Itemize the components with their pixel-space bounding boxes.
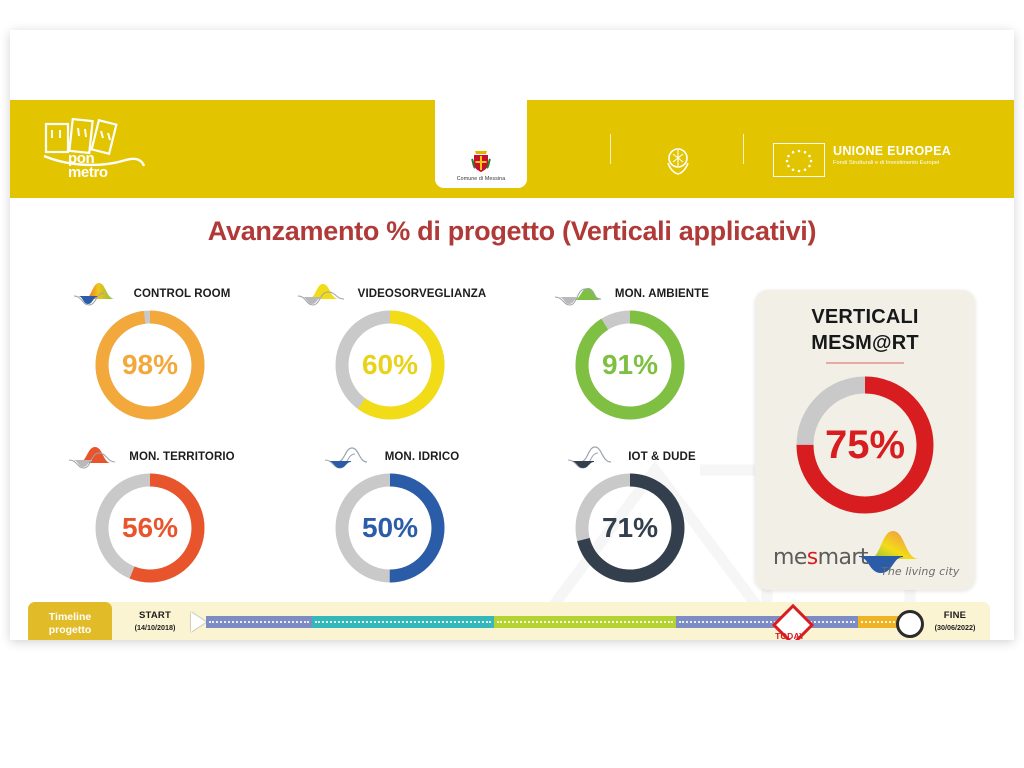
mesmart-logo: mesmart The living city (763, 527, 967, 585)
brand-line-metro: metro (68, 166, 108, 180)
donut-ring: 98% (90, 305, 210, 425)
mesmart-wordmark: mesmart (773, 545, 868, 570)
header-divider-2 (743, 134, 744, 164)
slide-canvas: pon metro Comune di Messina (10, 30, 1014, 640)
timeline-start-label: START (118, 610, 192, 621)
donut-label: CONTROL ROOM (134, 288, 231, 300)
timeline: Timeline progetto START (14/10/2018) 201… (28, 602, 990, 640)
donut-label: IOT & DUDE (628, 451, 695, 463)
mesmart-tagline: The living city (881, 565, 960, 578)
donut-ring: 91% (570, 305, 690, 425)
panel-title-line1: VERTICALI (755, 304, 975, 330)
donut-control-room: CONTROL ROOM 98% (30, 275, 270, 435)
donut-ring: 60% (330, 305, 450, 425)
donut-iot-dude: IOT & DUDE 71% (510, 438, 750, 598)
eu-title: UNIONE EUROPEA (833, 144, 951, 158)
donut-grid: CONTROL ROOM 98% VIDE (22, 275, 742, 595)
comune-di-messina-tab: Comune di Messina (435, 100, 527, 188)
donut-value: 98% (90, 305, 210, 425)
donut-label: MON. IDRICO (385, 451, 460, 463)
pon-metro-logo: pon metro (38, 116, 158, 188)
timeline-start-arrow-icon (191, 612, 206, 632)
donut-ring: 71% (570, 468, 690, 588)
donut-label: MON. TERRITORIO (129, 451, 234, 463)
donut-value: 91% (570, 305, 690, 425)
timeline-segment-2019 (312, 616, 494, 628)
donut-value: 71% (570, 468, 690, 588)
donut-ring: 56% (90, 468, 210, 588)
logo-pre: me (773, 545, 807, 570)
timeline-badge: Timeline progetto (28, 602, 112, 640)
repubblica-italiana-emblem (662, 143, 694, 177)
donut-label: VIDEOSORVEGLIANZA (358, 288, 487, 300)
timeline-end: FINE (30/06/2022) (920, 610, 990, 632)
header-band: pon metro Comune di Messina (10, 100, 1014, 198)
page-title: Avanzamento % di progetto (Verticali app… (10, 216, 1014, 247)
donut-value: 50% (330, 468, 450, 588)
donut-ring: 50% (330, 468, 450, 588)
eu-subtitle: Fondi Strutturali e di Investimento Euro… (833, 160, 951, 166)
pon-metro-wordmark: pon metro (68, 152, 108, 180)
timeline-badge-line1: Timeline (49, 611, 91, 624)
eu-flag-icon (773, 143, 825, 177)
timeline-start-date: (14/10/2018) (118, 623, 192, 632)
panel-title: VERTICALI MESM@RT (755, 304, 975, 356)
donut-mon-idrico: MON. IDRICO 50% (270, 438, 510, 598)
panel-value: 75% (790, 370, 940, 520)
donut-mon-territorio: MON. TERRITORIO 56% (30, 438, 270, 598)
timeline-segment-2020 (494, 616, 676, 628)
eu-text-block: UNIONE EUROPEA Fondi Strutturali e di In… (833, 144, 951, 166)
panel-donut-ring: 75% (790, 370, 940, 520)
timeline-segment-2021 (676, 616, 858, 628)
comune-crest-icon (471, 147, 491, 173)
verticali-mesmart-panel: VERTICALI MESM@RT 75% mesmart (755, 290, 975, 590)
logo-s: s (807, 545, 818, 570)
panel-title-line2: MESM@RT (755, 330, 975, 356)
timeline-segment-2018 (206, 616, 312, 628)
donut-mon-ambiente: MON. AMBIENTE 91% (510, 275, 750, 435)
panel-title-underline (826, 362, 904, 364)
donut-label: MON. AMBIENTE (615, 288, 709, 300)
comune-crest-label: Comune di Messina (457, 176, 506, 182)
donut-videosorveglianza: VIDEOSORVEGLIANZA 60% (270, 275, 510, 435)
timeline-today-label: TODAY (760, 631, 820, 640)
timeline-end-date: (30/06/2022) (920, 623, 990, 632)
donut-value: 60% (330, 305, 450, 425)
header-divider-1 (610, 134, 611, 164)
timeline-end-label: FINE (920, 610, 990, 621)
donut-value: 56% (90, 468, 210, 588)
timeline-badge-line2: progetto (49, 624, 92, 637)
timeline-start: START (14/10/2018) (118, 610, 192, 632)
